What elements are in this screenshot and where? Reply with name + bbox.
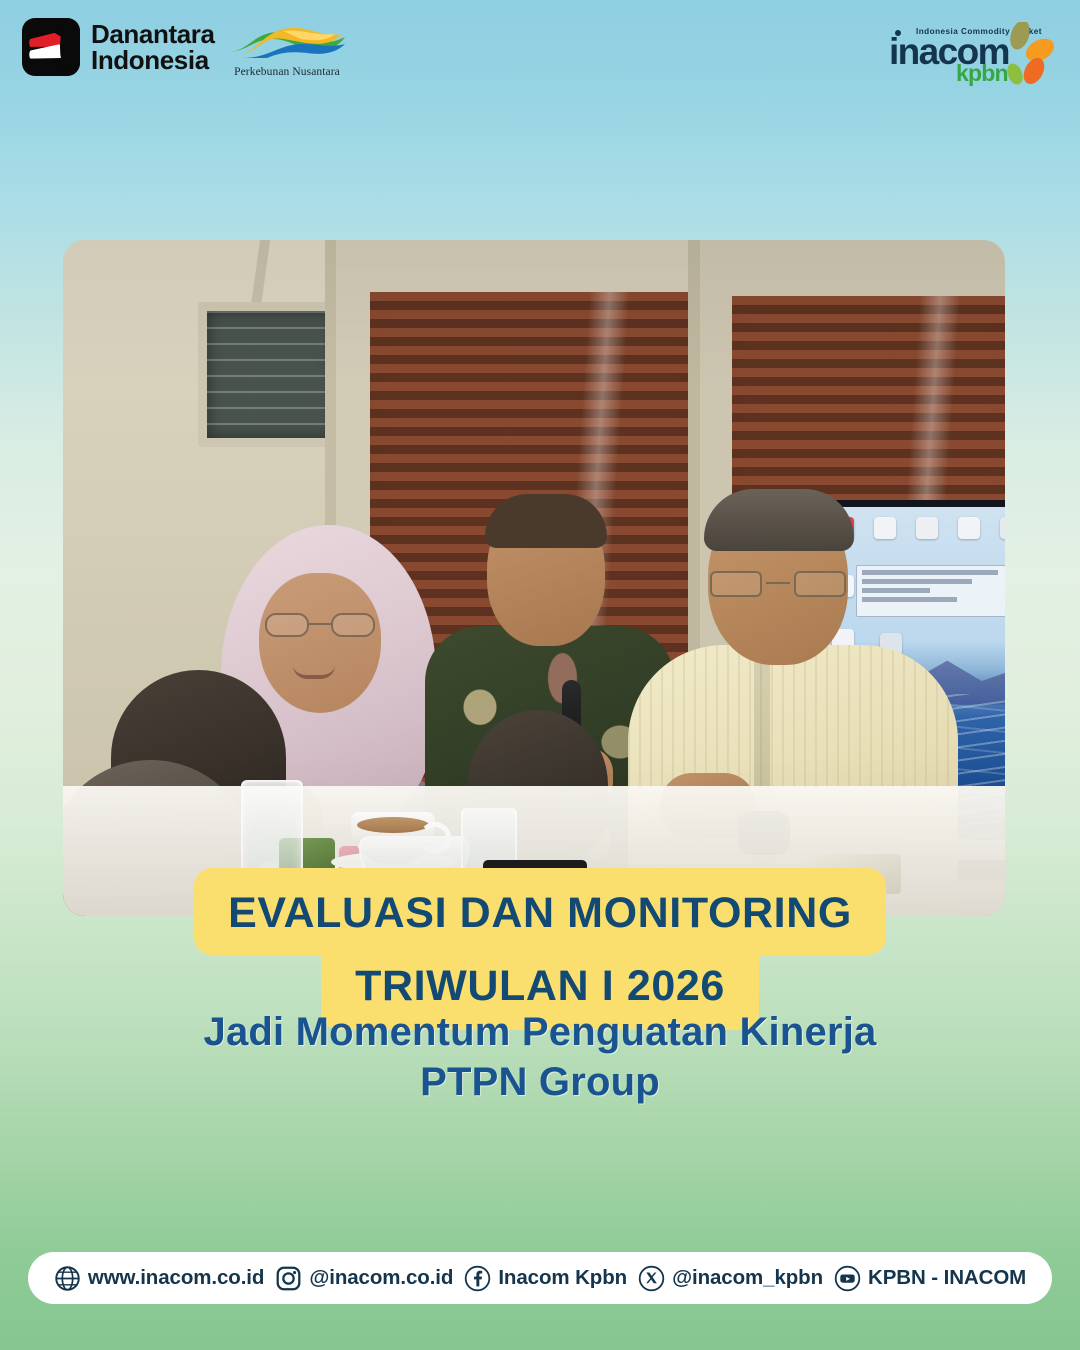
inacom-leaf-logo-icon xyxy=(998,22,1056,88)
headline: EVALUASI DAN MONITORING TRIWULAN I 2026 xyxy=(0,868,1080,1030)
subheadline-line-1: Jadi Momentum Penguatan Kinerja xyxy=(0,1008,1080,1058)
footer-label-x: @inacom_kpbn xyxy=(672,1266,823,1290)
globe-icon xyxy=(54,1265,81,1292)
danantara-flag-mark-icon xyxy=(22,18,80,76)
facebook-icon xyxy=(464,1265,491,1292)
danantara-line1: Danantara xyxy=(91,21,215,47)
footer-label-website: www.inacom.co.id xyxy=(88,1266,264,1290)
footer-item-youtube[interactable]: KPBN - INACOM xyxy=(834,1265,1026,1292)
social-footer-bar: www.inacom.co.id @inacom.co.id Inacom Kp… xyxy=(28,1252,1052,1304)
footer-item-website[interactable]: www.inacom.co.id xyxy=(54,1265,264,1292)
ptpn-logo: Perkebunan Nusantara xyxy=(223,22,351,78)
event-photo xyxy=(63,240,1005,916)
headline-line-1: EVALUASI DAN MONITORING xyxy=(194,868,886,955)
ptpn-ribbon-logo-icon xyxy=(223,22,351,64)
footer-label-youtube: KPBN - INACOM xyxy=(868,1266,1026,1290)
footer-item-facebook[interactable]: Inacom Kpbn xyxy=(464,1265,627,1292)
danantara-line2: Indonesia xyxy=(91,47,215,73)
footer-label-facebook: Inacom Kpbn xyxy=(498,1266,627,1290)
instagram-icon xyxy=(275,1265,302,1292)
subheadline-line-2: PTPN Group xyxy=(0,1058,1080,1108)
x-twitter-icon xyxy=(638,1265,665,1292)
inacom-logo: Indonesia Commodity Market inacom kpbn xyxy=(879,18,1054,90)
danantara-wordmark: Danantara Indonesia xyxy=(91,21,215,73)
photo-scene xyxy=(63,240,1005,916)
danantara-logo: Danantara Indonesia xyxy=(22,18,215,76)
ptpn-label: Perkebunan Nusantara xyxy=(223,66,351,78)
footer-item-instagram[interactable]: @inacom.co.id xyxy=(275,1265,453,1292)
subheadline: Jadi Momentum Penguatan Kinerja PTPN Gro… xyxy=(0,1008,1080,1107)
youtube-icon xyxy=(834,1265,861,1292)
footer-item-x[interactable]: @inacom_kpbn xyxy=(638,1265,823,1292)
header-logo-bar: Danantara Indonesia Perkebunan Nusantara… xyxy=(0,0,1080,110)
footer-label-instagram: @inacom.co.id xyxy=(309,1266,453,1290)
